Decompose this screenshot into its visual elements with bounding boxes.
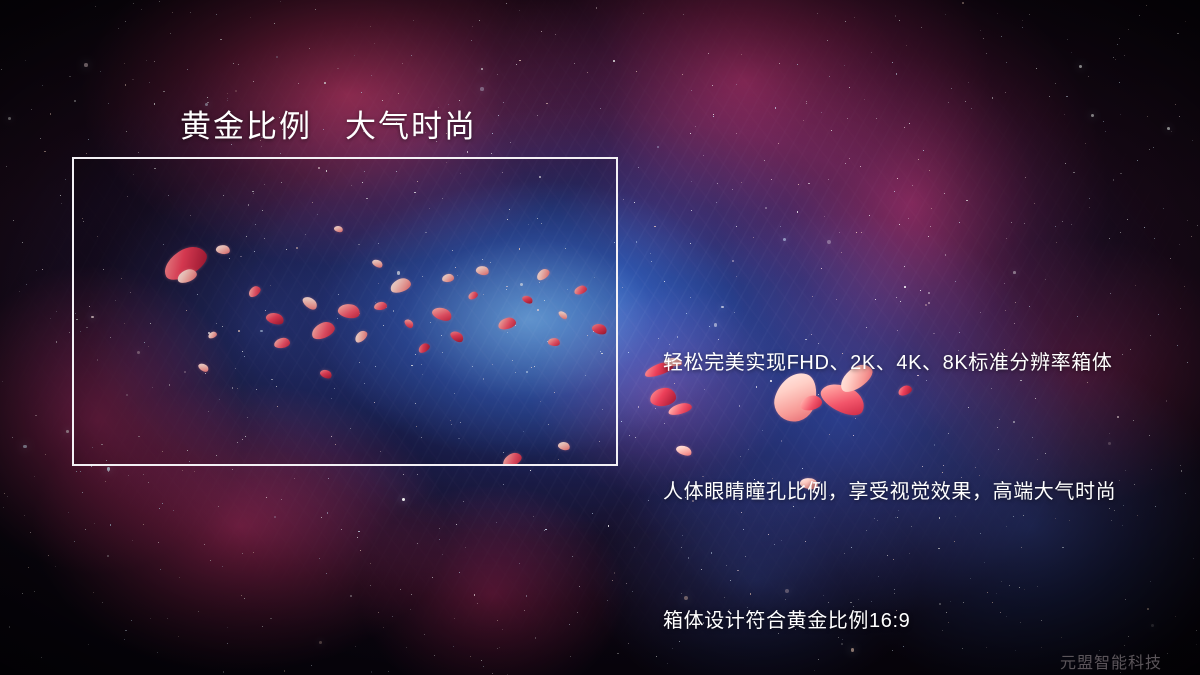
panel-content bbox=[74, 159, 616, 464]
display-preview-panel[interactable] bbox=[72, 157, 618, 466]
body-line-1: 轻松完美实现FHD、2K、4K、8K标准分辨率箱体 bbox=[663, 342, 1116, 385]
slide-body-text: 轻松完美实现FHD、2K、4K、8K标准分辨率箱体 人体眼睛瞳孔比例，享受视觉效… bbox=[663, 256, 1116, 675]
panel-shade-overlay bbox=[74, 159, 616, 464]
body-line-2: 人体眼睛瞳孔比例，享受视觉效果，高端大气时尚 bbox=[663, 471, 1116, 514]
slide-title: 黄金比例 大气时尚 bbox=[180, 101, 477, 146]
company-watermark: 元盟智能科技 bbox=[1060, 649, 1162, 673]
presentation-slide: 黄金比例 大气时尚 轻松完美实现FHD、2K、4K、8K标准分辨率箱体 人体眼睛… bbox=[0, 0, 1200, 675]
body-line-3: 箱体设计符合黄金比例16:9 bbox=[663, 600, 1116, 643]
